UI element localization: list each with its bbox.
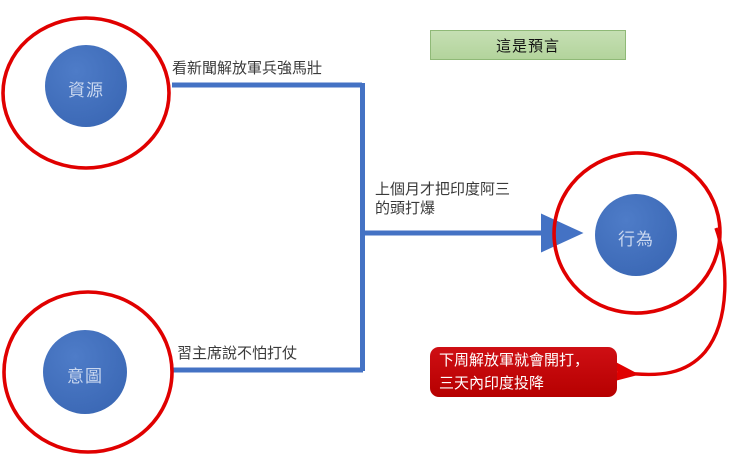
diagram-canvas: 資源 意圖 行為 看新聞解放軍兵強馬壯 上個月才把印度阿三 的頭打爆 習主席說不…: [0, 0, 740, 457]
edge-label-bottom: 習主席說不怕打仗: [177, 345, 297, 364]
edge-label-middle: 上個月才把印度阿三 的頭打爆: [375, 181, 510, 219]
prediction-callout: 下周解放軍就會開打， 三天內印度投降: [430, 347, 617, 397]
prediction-banner: 這是預言: [430, 30, 626, 60]
node-intent-label: 意圖: [45, 362, 125, 387]
edge-label-top: 看新聞解放軍兵強馬壯: [172, 60, 322, 79]
node-resource-label: 資源: [46, 76, 126, 101]
node-behavior-label: 行為: [596, 225, 676, 250]
connector-network: [172, 83, 551, 371]
